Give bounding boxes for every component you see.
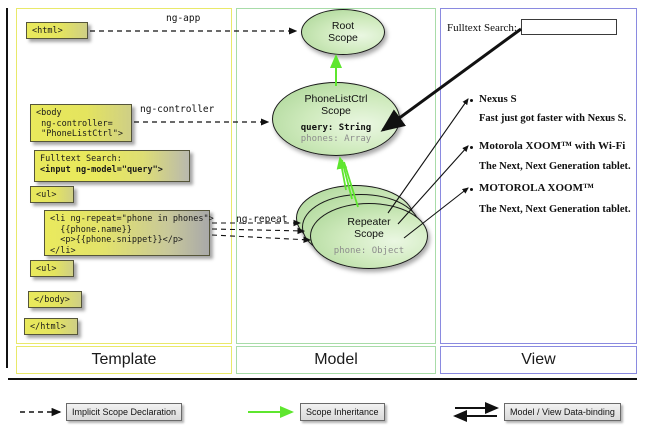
scope-repeater-title-2: Scope [354, 228, 384, 240]
code-box-body-open: <body ng-controller= "PhoneListCtrl"> [30, 104, 132, 142]
view-item-snippet-2: The Next, Next Generation tablet. [479, 161, 631, 172]
legend-item-scope-inheritance: Scope Inheritance [300, 403, 385, 421]
panel-view-label: View [521, 351, 555, 369]
legend-glyph-databinding [455, 408, 497, 416]
scope-root-title-1: Root [332, 20, 354, 32]
scope-repeater-title-1: Repeater [347, 216, 390, 228]
legend-item-model-view-data-binding: Model / View Data-binding [504, 403, 621, 421]
scope-root: Root Scope [301, 9, 385, 55]
diagram-canvas: Template Model View <html> <body ng-cont… [0, 0, 645, 425]
view-item-name-1: Nexus S [479, 93, 517, 105]
view-search-label: Fulltext Search: [447, 22, 517, 34]
left-rule [6, 8, 8, 368]
search-box-input-markup: <input ng-model="query"> [40, 165, 163, 175]
panel-template-label: Template [92, 351, 157, 369]
view-search-input[interactable] [521, 19, 617, 35]
code-box-li-ng-repeat: <li ng-repeat="phone in phones"> {{phone… [44, 210, 210, 256]
view-item-snippet-1: Fast just got faster with Nexus S. [479, 113, 626, 124]
view-bullet-1 [470, 99, 473, 102]
view-bullet-3 [470, 188, 473, 191]
scope-phonelistctrl-title-2: Scope [321, 105, 351, 117]
edge-label-ng-controller: ng-controller [140, 104, 214, 115]
view-item-snippet-3: The Next, Next Generation tablet. [479, 204, 631, 215]
legend-divider [8, 378, 637, 380]
panel-view-body [440, 8, 637, 344]
code-box-fulltext-search: Fulltext Search: <input ng-model="query"… [34, 150, 190, 182]
scope-phonelistctrl-prop-query: query: String [301, 123, 371, 134]
legend-item-implicit-scope-declaration: Implicit Scope Declaration [66, 403, 182, 421]
view-item-name-2: Motorola XOOM™ with Wi-Fi [479, 140, 625, 152]
scope-root-title-2: Scope [328, 32, 358, 44]
code-box-ul-open: <ul> [30, 186, 74, 203]
code-box-html-close: </html> [24, 318, 78, 335]
panel-model-body [236, 8, 436, 344]
view-bullet-2 [470, 146, 473, 149]
panel-model-label: Model [314, 351, 358, 369]
panel-model-footer: Model [236, 346, 436, 374]
edge-label-ng-app: ng-app [166, 13, 200, 24]
view-item-name-3: MOTOROLA XOOM™ [479, 182, 594, 194]
panel-template-footer: Template [16, 346, 232, 374]
scope-repeater: Repeater Scope phone: Object [310, 203, 428, 269]
edge-label-ng-repeat: ng-repeat [236, 214, 287, 225]
scope-repeater-prop-phone: phone: Object [334, 246, 404, 257]
panel-view-footer: View [440, 346, 637, 374]
search-box-label: Fulltext Search: [40, 154, 122, 164]
code-box-body-close: </body> [28, 291, 82, 308]
scope-phonelistctrl: PhoneListCtrl Scope query: String phones… [272, 82, 400, 156]
code-box-ul-close: <ul> [30, 260, 74, 277]
code-box-html-open: <html> [26, 22, 88, 39]
scope-phonelistctrl-title-1: PhoneListCtrl [304, 93, 367, 105]
scope-phonelistctrl-prop-phones: phones: Array [301, 134, 371, 145]
